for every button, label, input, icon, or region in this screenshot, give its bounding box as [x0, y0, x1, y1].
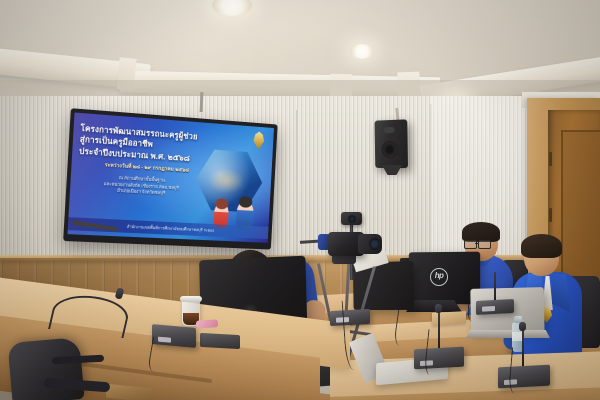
- dslr-camera-lens: [358, 234, 382, 254]
- laptop-silver-base: [466, 330, 550, 338]
- monitor-hp-base: [406, 300, 462, 312]
- slide-title: โครงการพัฒนาสมรรถนะครูผู้ช่วย สู่การเป็น…: [79, 123, 205, 165]
- hp-logo-icon: hp: [430, 268, 448, 286]
- conference-mic-head-mid: [435, 304, 442, 313]
- conference-mic-head-right: [519, 322, 526, 331]
- person-2-hair: [462, 222, 500, 242]
- slide-canvas: โครงการพัฒนาสมรรถนะครูผู้ช่วย สู่การเป็น…: [67, 112, 274, 242]
- person-2-eyeglasses-bridge: [475, 243, 478, 244]
- action-camera[interactable]: [341, 212, 362, 225]
- door-hinge-upper: [549, 152, 552, 166]
- wall-corner-line-1: [296, 110, 299, 270]
- wall-speaker: [375, 119, 408, 168]
- conference-mic-base-back-right[interactable]: [476, 299, 514, 315]
- cup-lid: [180, 296, 202, 302]
- door-hinge-lower: [549, 208, 552, 222]
- desk-device[interactable]: [200, 333, 240, 349]
- ceiling-downlight-2: [350, 44, 374, 59]
- presentation-screen[interactable]: โครงการพัฒนาสมรรถนะครูผู้ช่วย สู่การเป็น…: [63, 108, 278, 249]
- slide-emblem-icon: [252, 131, 266, 150]
- slide-body: ณ สถานศึกษาขั้นพื้นฐาน และหน่วยงานสังกัด…: [84, 173, 198, 199]
- person-2-eyeglasses-right: [478, 240, 491, 249]
- cable-5: [467, 292, 482, 323]
- conference-room-photo: โครงการพัฒนาสมรรถนะครูผู้ช่วย สู่การเป็น…: [0, 0, 600, 400]
- person-3-hair: [521, 234, 562, 258]
- person-2-eyeglasses-left: [464, 240, 477, 249]
- slide-hexagon-graphic: [194, 147, 264, 214]
- pink-notebook[interactable]: [196, 319, 219, 329]
- chair-foreground[interactable]: [7, 337, 84, 400]
